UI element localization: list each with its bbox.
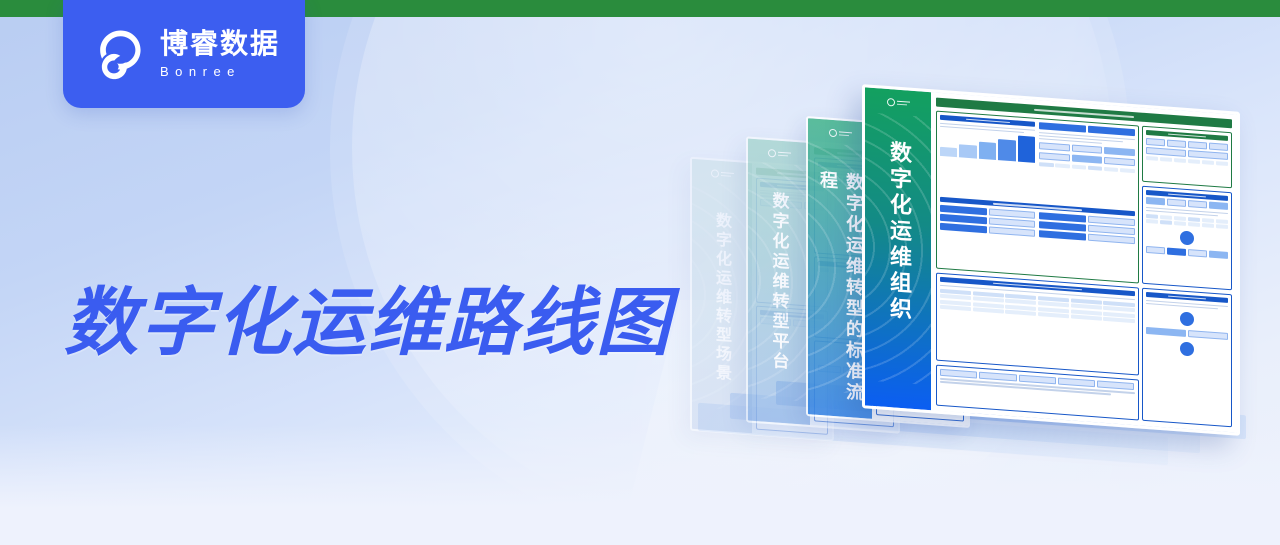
bonree-circle-mark-icon: [88, 25, 146, 83]
hero-banner: 博睿数据 Bonree 数字化运维路线图 数字化运维转型场景: [0, 0, 1280, 545]
poster-title: 数字化运维转型的标准流程: [814, 170, 866, 419]
brand-name-cn: 博睿数据: [160, 30, 280, 58]
poster-title: 数字化运维转型场景: [710, 211, 734, 384]
poster-rail-logo-icon: [829, 129, 852, 139]
poster-title: 数字化运维组织: [882, 140, 914, 324]
poster-card[interactable]: 数字化运维组织: [862, 84, 1240, 436]
poster-title: 数字化运维转型平台: [767, 191, 792, 373]
poster-rail-logo-icon: [711, 169, 734, 179]
poster-stack: 数字化运维转型场景 数字化运维转型平台: [690, 80, 1250, 480]
poster-rail-logo-icon: [887, 98, 910, 108]
poster-rail-logo-icon: [768, 149, 791, 159]
brand-name-en: Bonree: [160, 65, 241, 78]
page-title: 数字化运维路线图: [64, 286, 672, 360]
brand-wordmark: 博睿数据 Bonree: [160, 30, 280, 78]
brand-logo-plaque[interactable]: 博睿数据 Bonree: [63, 0, 305, 108]
